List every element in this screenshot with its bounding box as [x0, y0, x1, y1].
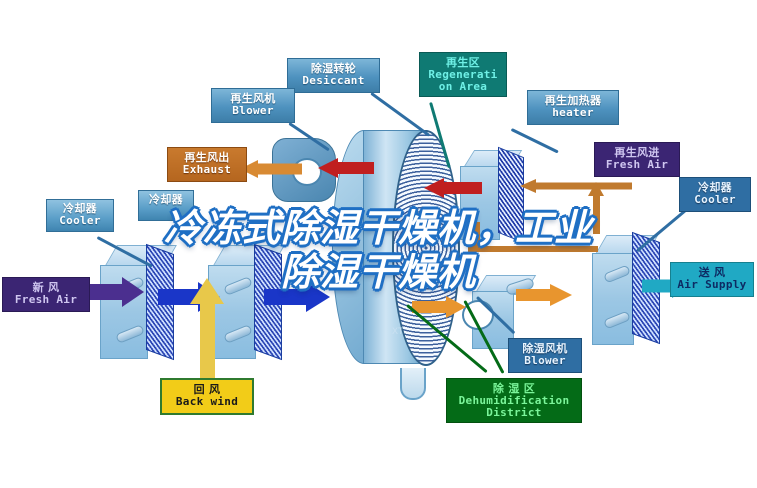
label-dehum-district[interactable]: 除 湿 区 Dehumidification District [446, 378, 582, 423]
label-desiccant-rotor-en: Desiccant [288, 75, 379, 87]
watermark: XT [392, 326, 404, 336]
label-regen-fresh-air-en: Fresh Air [595, 159, 679, 171]
regen-in-arrow [318, 158, 374, 178]
label-back-wind[interactable]: 回 风 Back wind [160, 378, 254, 415]
regen-fresh-up-head [588, 182, 604, 196]
exhaust-arrow [240, 160, 302, 178]
label-regen-heater-en: heater [528, 107, 618, 119]
regen-in-shaft [336, 162, 374, 174]
label-regen-blower-en: Blower [212, 105, 294, 117]
dehumidifier-diagram: XT [0, 0, 757, 488]
label-dehum-blower[interactable]: 除湿风机 Blower [508, 338, 582, 373]
label-regeneration-area-en: Regenerati on Area [422, 69, 504, 92]
page-title-line1: 冷冻式除湿干燥机，工业 [0, 206, 757, 250]
regen-in-head [318, 158, 338, 178]
label-regen-blower[interactable]: 再生风机 Blower [211, 88, 295, 123]
label-cooler-mid-cn: 冷却器 [139, 194, 193, 206]
label-regen-heater[interactable]: 再生加热器 heater [527, 90, 619, 125]
regen-fresh-in-arrow [520, 178, 632, 194]
page-title-line2: 除湿干燥机 [0, 250, 757, 294]
regen-fresh-in-head [520, 179, 536, 193]
label-dehum-district-en: Dehumidification District [449, 395, 579, 418]
exhaust-arrow-shaft [256, 164, 302, 175]
dry-air-1-head [446, 296, 466, 318]
regen-fresh-in-shaft [534, 183, 632, 190]
regen-hot-head [424, 178, 444, 198]
label-regeneration-area[interactable]: 再生区 Regenerati on Area [419, 52, 507, 97]
label-exhaust[interactable]: 再生风出 Exhaust [167, 147, 247, 182]
rotor-drive-belt [400, 368, 426, 400]
label-exhaust-en: Exhaust [168, 164, 246, 176]
label-fresh-air-en: Fresh Air [3, 294, 89, 306]
label-cooler-right-en: Cooler [680, 194, 750, 206]
regen-hot-shaft [442, 182, 482, 194]
label-dehum-blower-en: Blower [509, 355, 581, 367]
regen-hot-arrow [424, 178, 482, 198]
label-regen-fresh-air[interactable]: 再生风进 Fresh Air [594, 142, 680, 177]
back-wind-shaft [200, 300, 215, 378]
label-desiccant-rotor[interactable]: 除湿转轮 Desiccant [287, 58, 380, 93]
label-back-wind-en: Back wind [162, 396, 252, 408]
